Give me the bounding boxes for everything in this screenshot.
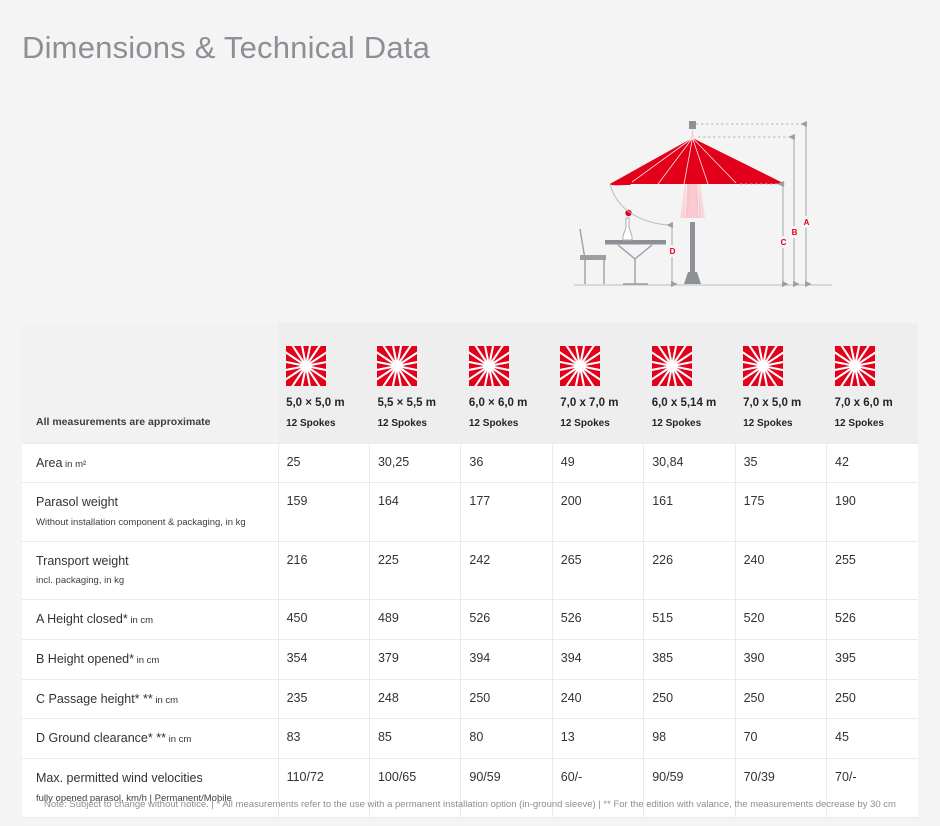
table-cell: 159 [278,483,369,541]
table-cell: 30,84 [644,443,735,483]
column-size-label: 7,0 x 6,0 m [835,397,913,410]
all-measurements-note: All measurements are approximate [36,416,278,429]
cell-value: 394 [561,651,635,666]
cell-value: 394 [469,651,543,666]
cell-value: 250 [652,691,726,706]
table-header-row: All measurements are approximate 5,0 × 5… [22,323,918,443]
cell-value: 90/59 [652,770,726,785]
cell-value: 248 [378,691,452,706]
cell-value: 216 [287,553,361,568]
row-label-cell: A Height closed* in cm [22,599,278,639]
cell-value: 70/39 [744,770,818,785]
cell-value: 80 [469,730,543,745]
table-cell: 200 [552,483,643,541]
parasol-spokes-icon [835,346,875,386]
table-cell: 49 [552,443,643,483]
table-cell: 35 [735,443,826,483]
table-cell: 216 [278,541,369,599]
table-cell: 161 [644,483,735,541]
table-footnote: Note: Subject to change without notice. … [0,798,940,811]
row-label-text: Max. permitted wind velocities [36,770,270,787]
cell-value: 70/- [835,770,910,785]
cell-value: 161 [652,494,726,509]
cell-value: 90/59 [469,770,543,785]
table-row: Parasol weightWithout installation compo… [22,483,918,541]
cell-value: 240 [561,691,635,706]
row-label-text: Transport weight [36,553,270,570]
table-row: B Height opened* in cm354379394394385390… [22,639,918,679]
column-header-3: 7,0 x 7,0 m12 Spokes [552,323,643,443]
table-cell: 30,25 [369,443,460,483]
parasol-spokes-icon [652,346,692,386]
cell-value: 83 [287,730,361,745]
row-label-cell: Transport weightincl. packaging, in kg [22,541,278,599]
cafe-table [618,245,652,284]
row-label-text: D Ground clearance* ** in cm [36,730,270,747]
table-cell: 250 [644,679,735,719]
dimension-label-c: C [781,238,787,247]
column-size-label: 5,0 × 5,0 m [286,397,363,410]
table-row: A Height closed* in cm450489526526515520… [22,599,918,639]
cell-value: 255 [835,553,910,568]
row-label-unit: in cm [134,655,159,666]
column-size-label: 7,0 x 5,0 m [743,397,820,410]
row-label-cell: C Passage height* ** in cm [22,679,278,719]
table-body: Area in m²2530,25364930,843542Parasol we… [22,443,918,817]
column-spokes-label: 12 Spokes [286,418,363,429]
parasol-spokes-icon [286,346,326,386]
table-cell: 225 [369,541,460,599]
table-cell: 190 [827,483,919,541]
technical-data-table: All measurements are approximate 5,0 × 5… [22,323,918,818]
table-row: D Ground clearance* ** in cm838580139870… [22,719,918,759]
row-label-unit: in cm [128,615,153,626]
row-label-cell: D Ground clearance* ** in cm [22,719,278,759]
row-label-subtext: incl. packaging, in kg [36,575,270,587]
table-cell: 13 [552,719,643,759]
column-size-label: 6,0 x 5,14 m [652,397,729,410]
table-cell: 80 [461,719,552,759]
table-cell: 489 [369,599,460,639]
cell-value: 242 [469,553,543,568]
cell-value: 190 [835,494,910,509]
table-header: All measurements are approximate 5,0 × 5… [22,323,918,443]
table-cell: 515 [644,599,735,639]
cell-value: 85 [378,730,452,745]
cell-value: 235 [287,691,361,706]
column-header-1: 5,5 × 5,5 m12 Spokes [369,323,460,443]
parasol-spokes-icon [469,346,509,386]
table-cell: 235 [278,679,369,719]
table-cell: 526 [827,599,919,639]
cell-value: 42 [835,455,910,470]
cell-value: 30,84 [652,455,726,470]
cell-value: 49 [561,455,635,470]
table-cell: 526 [461,599,552,639]
column-header-2: 6,0 × 6,0 m12 Spokes [461,323,552,443]
column-size-label: 5,5 × 5,5 m [377,397,454,410]
column-spokes-label: 12 Spokes [652,418,729,429]
cell-value: 175 [744,494,818,509]
cell-value: 98 [652,730,726,745]
cell-value: 450 [287,611,361,626]
cell-value: 354 [287,651,361,666]
row-label-subtext: Without installation component & packagi… [36,517,270,529]
cell-value: 30,25 [378,455,452,470]
cell-value: 45 [835,730,910,745]
column-spokes-label: 12 Spokes [835,418,913,429]
table-cell: 42 [827,443,919,483]
dimension-label-b: B [792,228,798,237]
row-label-text: Parasol weight [36,494,270,511]
row-label-unit: in cm [153,695,178,706]
page-root: Dimensions & Technical Data [0,0,940,826]
cell-value: 226 [652,553,726,568]
cell-value: 36 [469,455,543,470]
cell-value: 164 [378,494,452,509]
column-header-6: 7,0 x 6,0 m12 Spokes [827,323,919,443]
row-label-text: Area in m² [36,455,270,472]
table-cell: 265 [552,541,643,599]
table-cell: 175 [735,483,826,541]
cell-value: 390 [744,651,818,666]
table-top [605,240,666,245]
table-row: Area in m²2530,25364930,843542 [22,443,918,483]
table-cell: 250 [735,679,826,719]
table-cell: 226 [644,541,735,599]
table-row: Transport weightincl. packaging, in kg21… [22,541,918,599]
column-spokes-label: 12 Spokes [743,418,820,429]
cell-value: 526 [835,611,910,626]
cell-value: 177 [469,494,543,509]
column-header-4: 6,0 x 5,14 m12 Spokes [644,323,735,443]
cell-value: 520 [744,611,818,626]
column-header-5: 7,0 x 5,0 m12 Spokes [735,323,826,443]
cell-value: 265 [561,553,635,568]
parasol-spokes-icon [560,346,600,386]
table-cell: 394 [461,639,552,679]
parasol-dimension-diagram: A B C D [560,112,840,302]
cell-value: 225 [378,553,452,568]
cell-value: 489 [378,611,452,626]
table-cell: 394 [552,639,643,679]
row-label-unit: in m² [62,459,86,470]
table-cell: 450 [278,599,369,639]
table-cell: 248 [369,679,460,719]
column-spokes-label: 12 Spokes [377,418,454,429]
table-cell: 85 [369,719,460,759]
cell-value: 515 [652,611,726,626]
parasol-spokes-icon [377,346,417,386]
cell-value: 250 [469,691,543,706]
cell-value: 100/65 [378,770,452,785]
table-cell: 240 [735,541,826,599]
column-spokes-label: 12 Spokes [469,418,546,429]
row-label-text: C Passage height* ** in cm [36,691,270,708]
table-cell: 379 [369,639,460,679]
cell-value: 13 [561,730,635,745]
row-label-cell: Parasol weightWithout installation compo… [22,483,278,541]
cell-value: 200 [561,494,635,509]
row-label-cell: Area in m² [22,443,278,483]
table-cell: 177 [461,483,552,541]
dimension-label-d: D [670,247,676,256]
chair-seat [580,255,606,260]
table-cell: 250 [827,679,919,719]
table-row: C Passage height* ** in cm23524825024025… [22,679,918,719]
table-cell: 520 [735,599,826,639]
row-label-cell: B Height opened* in cm [22,639,278,679]
table-cell: 395 [827,639,919,679]
cell-value: 159 [287,494,361,509]
table-cell: 390 [735,639,826,679]
parasol-spokes-icon [743,346,783,386]
cell-value: 395 [835,651,910,666]
table-corner-cell: All measurements are approximate [22,323,278,443]
cell-value: 70 [744,730,818,745]
cell-value: 60/- [561,770,635,785]
cell-value: 35 [744,455,818,470]
cell-value: 25 [287,455,361,470]
column-header-0: 5,0 × 5,0 m12 Spokes [278,323,369,443]
cell-value: 526 [469,611,543,626]
table-cell: 45 [827,719,919,759]
cell-value: 110/72 [287,770,361,785]
table-cell: 164 [369,483,460,541]
cell-value: 526 [561,611,635,626]
dimension-label-a: A [804,218,810,227]
cell-value: 250 [835,691,910,706]
row-label-text: B Height opened* in cm [36,651,270,668]
table-cell: 526 [552,599,643,639]
column-size-label: 6,0 × 6,0 m [469,397,546,410]
cell-value: 240 [744,553,818,568]
table-cell: 250 [461,679,552,719]
table-cell: 255 [827,541,919,599]
page-title: Dimensions & Technical Data [22,30,430,66]
table-cell: 25 [278,443,369,483]
table-cell: 354 [278,639,369,679]
column-spokes-label: 12 Spokes [560,418,637,429]
table-cell: 240 [552,679,643,719]
table-cell: 70 [735,719,826,759]
cell-value: 250 [744,691,818,706]
row-label-unit: in cm [166,734,191,745]
table-cell: 36 [461,443,552,483]
column-size-label: 7,0 x 7,0 m [560,397,637,410]
table-cell: 83 [278,719,369,759]
cell-value: 385 [652,651,726,666]
row-label-text: A Height closed* in cm [36,611,270,628]
table-cell: 385 [644,639,735,679]
table-cell: 242 [461,541,552,599]
table-cell: 98 [644,719,735,759]
cell-value: 379 [378,651,452,666]
